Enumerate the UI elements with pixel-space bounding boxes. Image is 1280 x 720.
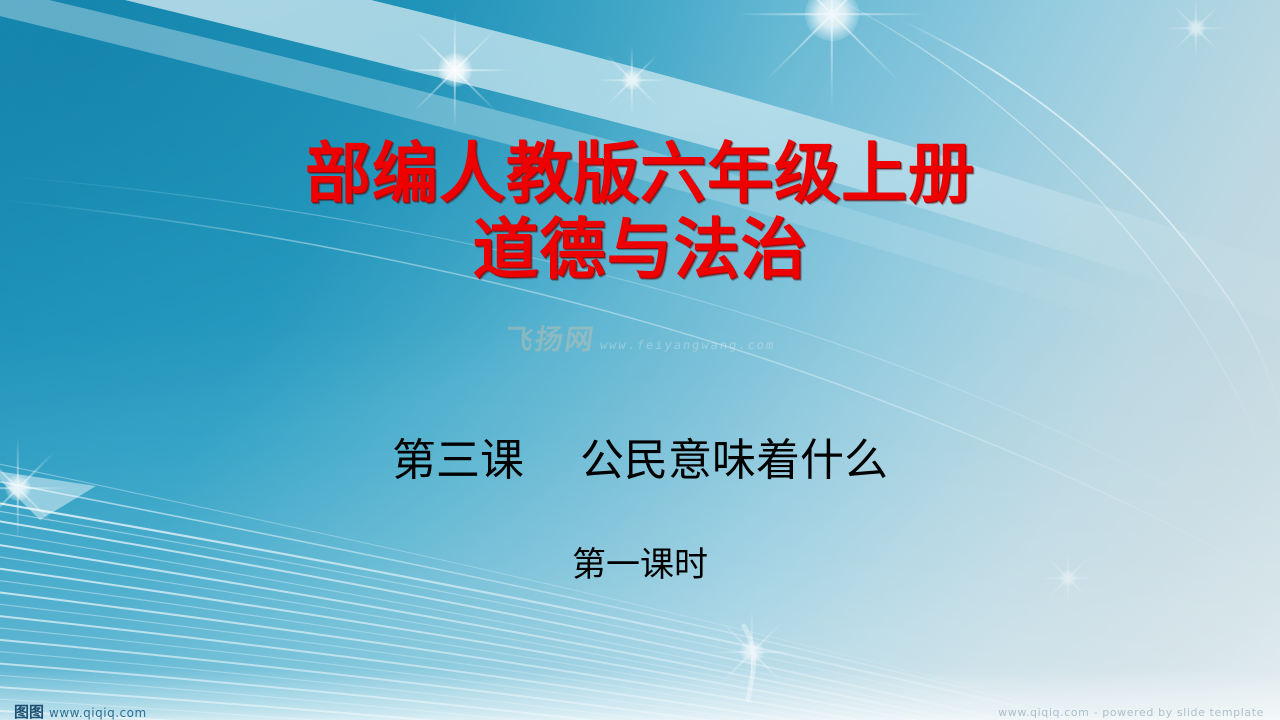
corner-logo-url: www.qiqiq.com xyxy=(49,707,147,720)
presentation-slide: 部编人教版六年级上册 道德与法治 飞扬网 www.feiyangwang.com… xyxy=(0,0,1280,720)
slide-content: 部编人教版六年级上册 道德与法治 飞扬网 www.feiyangwang.com… xyxy=(0,0,1280,720)
title-line-2: 道德与法治 xyxy=(0,212,1280,288)
watermark: 飞扬网 www.feiyangwang.com xyxy=(0,326,1280,354)
title-block: 部编人教版六年级上册 道德与法治 xyxy=(0,136,1280,288)
watermark-logo-text: 飞扬网 xyxy=(503,326,597,354)
lesson-title: 第三课 公民意味着什么 xyxy=(0,432,1280,490)
corner-logo-mark: 图图 xyxy=(14,705,44,720)
period-label: 第一课时 xyxy=(0,542,1280,588)
corner-branding-right: www.qiqiq.com - powered by slide templat… xyxy=(998,706,1264,719)
title-line-1: 部编人教版六年级上册 xyxy=(0,136,1280,212)
watermark-url-text: www.feiyangwang.com xyxy=(598,337,776,353)
corner-branding-left: 图图 www.qiqiq.com xyxy=(14,702,147,720)
